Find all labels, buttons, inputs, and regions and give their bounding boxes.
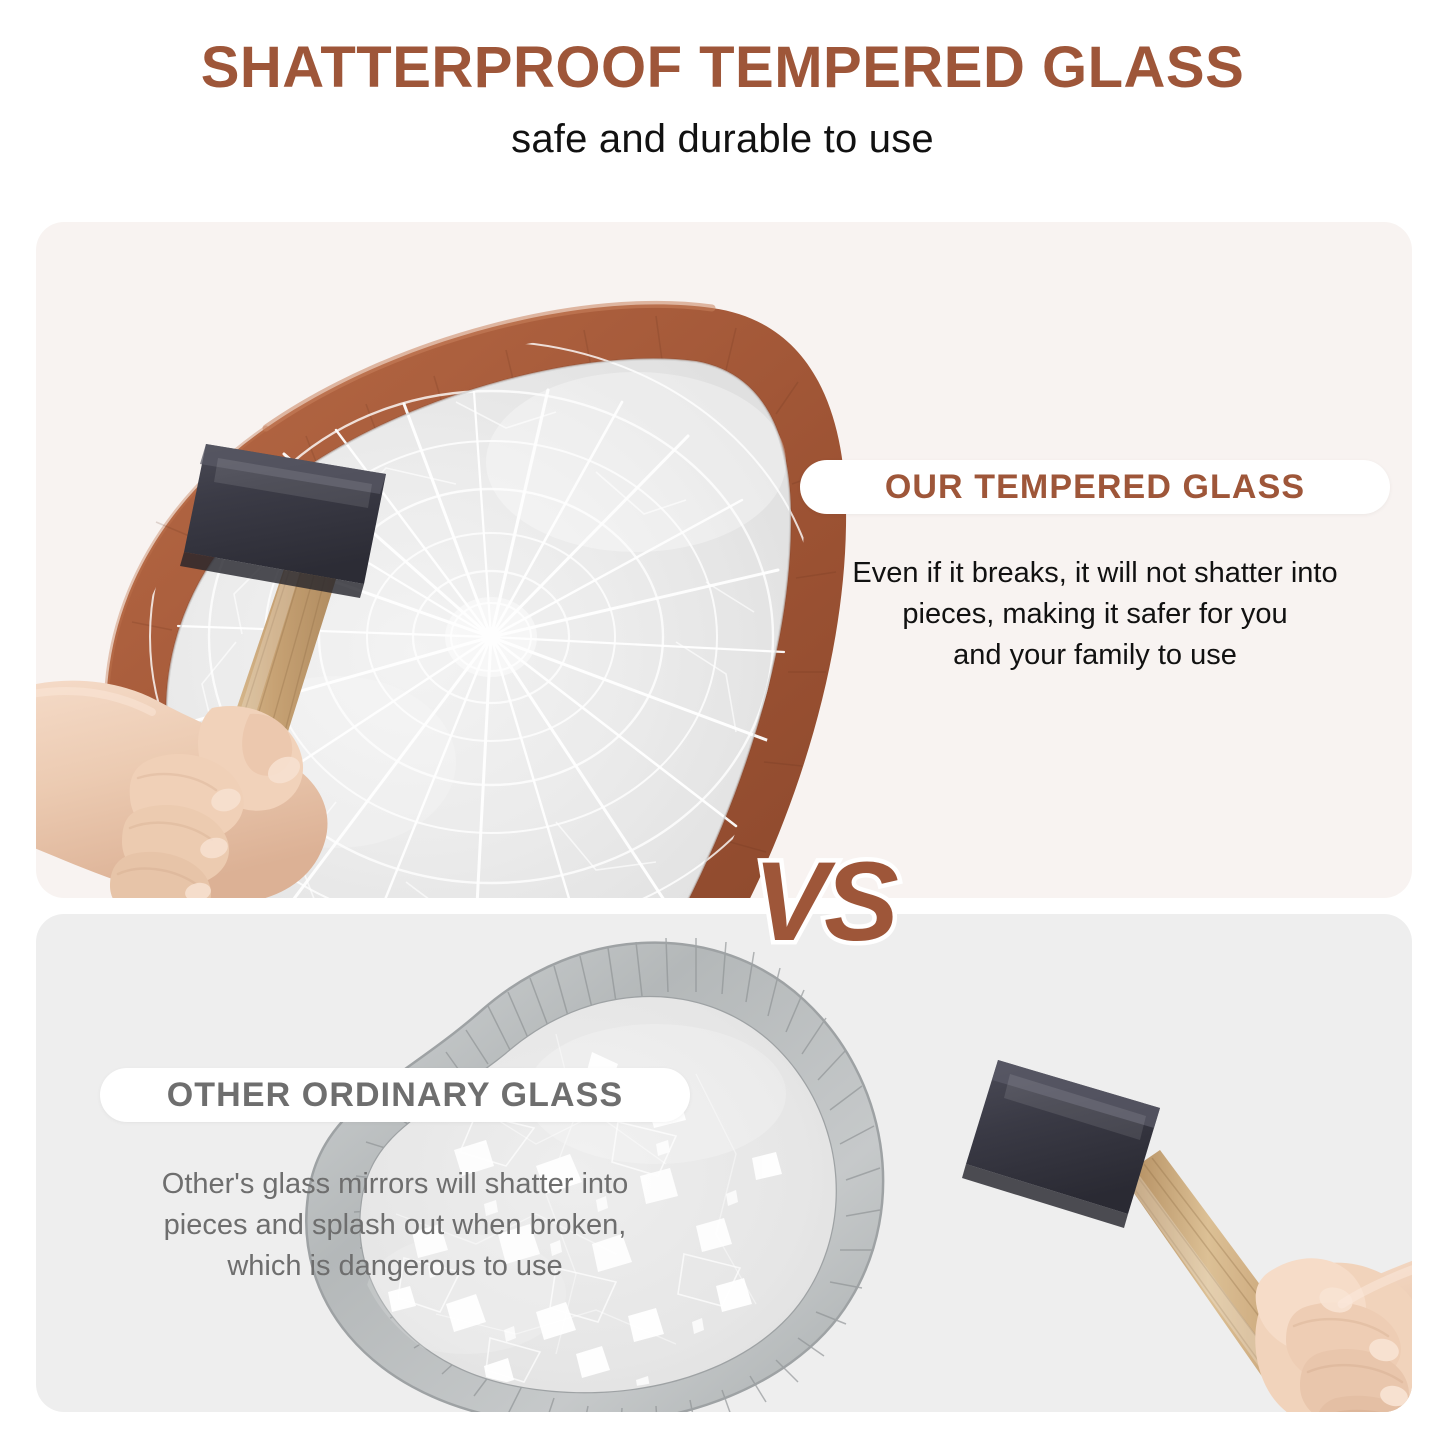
description-line: Even if it breaks, it will not shatter i…	[800, 553, 1390, 594]
description-line: pieces and splash out when broken,	[100, 1205, 690, 1246]
infographic-page: SHATTERPROOF TEMPERED GLASS safe and dur…	[0, 0, 1445, 1445]
ordinary-glass-badge: OTHER ORDINARY GLASS	[100, 1068, 690, 1122]
header: SHATTERPROOF TEMPERED GLASS safe and dur…	[0, 0, 1445, 205]
description-line: which is dangerous to use	[100, 1246, 690, 1287]
tempered-glass-badge-label: OUR TEMPERED GLASS	[885, 468, 1305, 507]
page-title: SHATTERPROOF TEMPERED GLASS	[201, 38, 1245, 99]
tempered-glass-badge: OUR TEMPERED GLASS	[800, 460, 1390, 514]
ordinary-glass-description: Other's glass mirrors will shatter into …	[100, 1164, 690, 1288]
ordinary-glass-badge-label: OTHER ORDINARY GLASS	[167, 1076, 623, 1115]
vs-divider-badge: VS	[744, 832, 904, 972]
tempered-glass-description: Even if it breaks, it will not shatter i…	[800, 553, 1390, 677]
page-subtitle: safe and durable to use	[511, 117, 934, 162]
ordinary-glass-panel	[36, 914, 1412, 1412]
description-line: pieces, making it safer for you	[800, 594, 1390, 635]
description-line: Other's glass mirrors will shatter into	[100, 1164, 690, 1205]
description-line: and your family to use	[800, 635, 1390, 676]
